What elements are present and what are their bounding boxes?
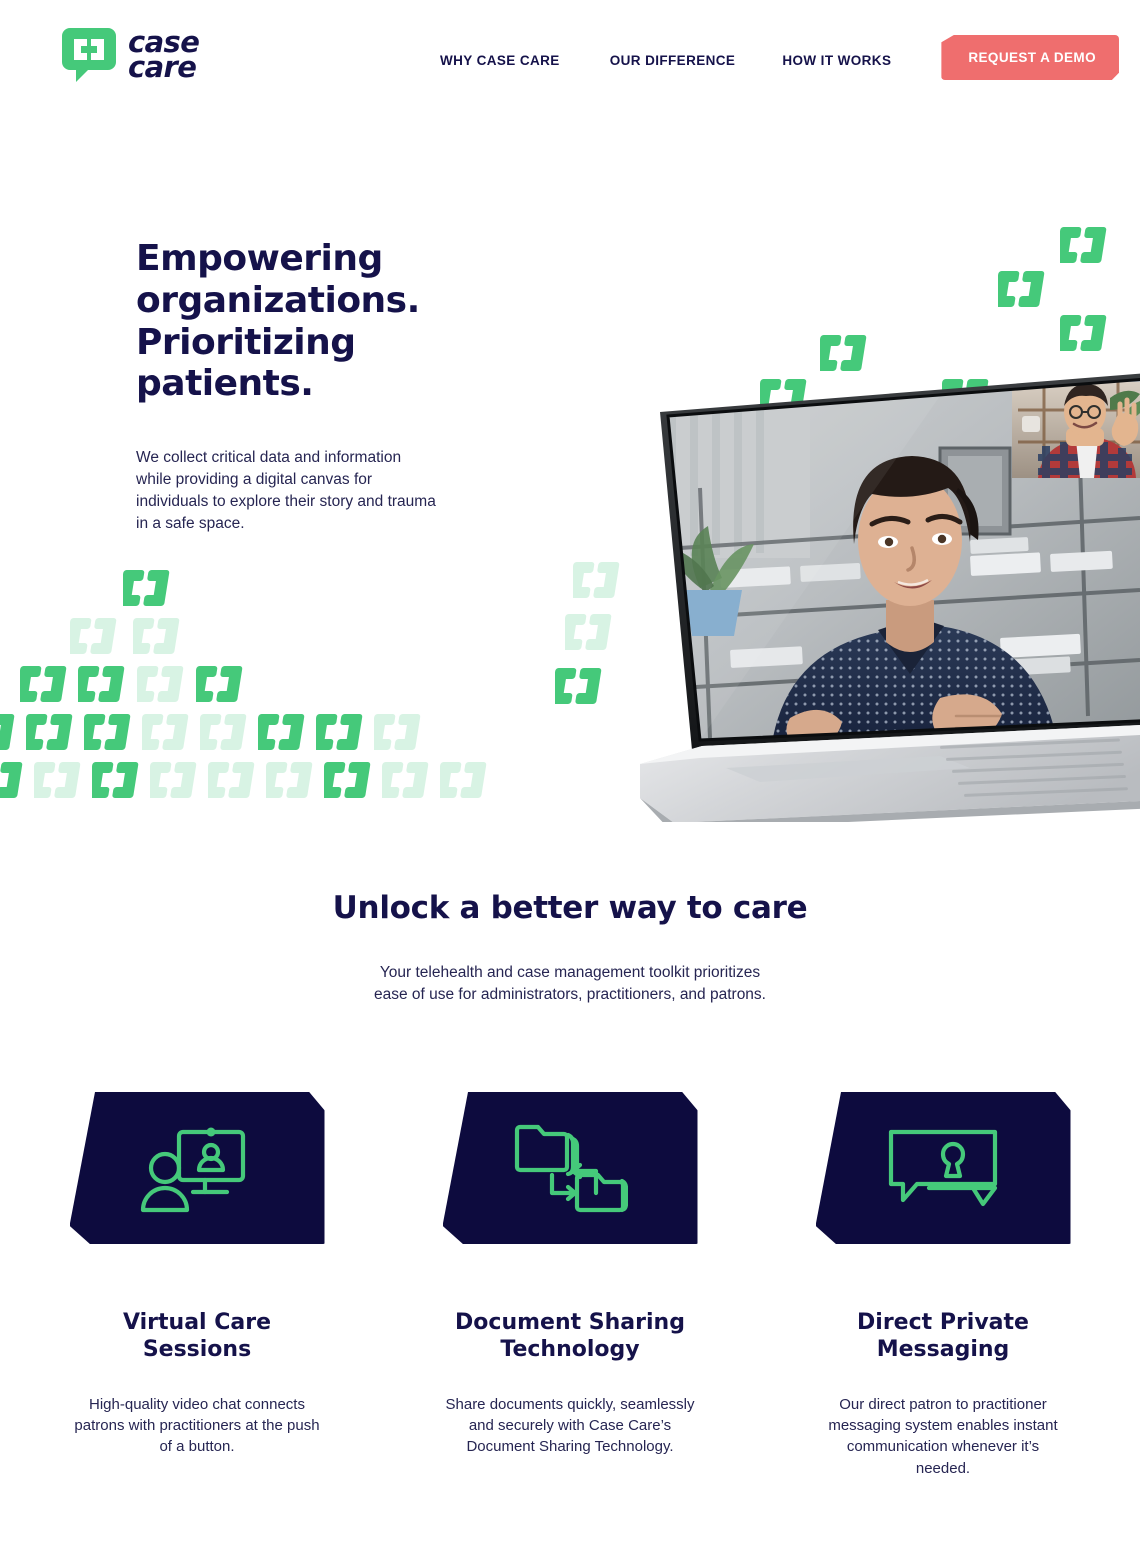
feature-card-icon-plate (443, 1092, 698, 1244)
feature-card-direct-private-messaging[interactable]: Direct Private Messaging Our direct patr… (816, 1092, 1071, 1479)
site-header: case care WHY CASE CARE OUR DIFFERENCE H… (0, 0, 1140, 112)
hero-subtitle: We collect critical data and information… (136, 447, 436, 535)
request-a-demo-button[interactable]: REQUEST A DEMO (941, 35, 1119, 80)
features-section: Unlock a better way to care Your telehea… (0, 822, 1140, 1542)
bracket-glyph (123, 568, 171, 610)
feature-card-icon-plate (70, 1092, 325, 1244)
landing-page: Empowering organizations. Prioritizing p… (0, 0, 1140, 1542)
virtual-care-person-monitor-icon (139, 1122, 255, 1214)
hero-title-line: Empowering (136, 238, 466, 280)
bracket-glyph (133, 616, 181, 658)
bracket-glyph (137, 664, 185, 706)
hero-copy: Empowering organizations. Prioritizing p… (136, 238, 466, 535)
feature-card-title: Virtual Care Sessions (70, 1310, 325, 1364)
feature-card-body: Share documents quickly, seamlessly and … (445, 1394, 695, 1458)
bracket-glyph (266, 760, 314, 802)
hero-title: Empowering organizations. Prioritizing p… (136, 238, 466, 405)
bracket-glyph (565, 612, 613, 654)
bracket-glyph (34, 760, 82, 802)
nav-item-why-case-care[interactable]: WHY CASE CARE (440, 47, 560, 74)
features-subheading: Your telehealth and case management tool… (370, 962, 770, 1007)
nav-item-how-it-works[interactable]: HOW IT WORKS (782, 47, 891, 74)
bracket-glyph (0, 760, 24, 802)
bracket-glyph (382, 760, 430, 802)
document-sharing-folders-transfer-icon (512, 1119, 628, 1217)
bracket-pattern-left (0, 560, 520, 822)
bracket-glyph (208, 760, 256, 802)
bracket-glyph (142, 712, 190, 754)
feature-card-title: Document Sharing Technology (443, 1310, 698, 1364)
feature-card-title: Direct Private Messaging (816, 1310, 1071, 1364)
feature-card-list: Virtual Care Sessions High-quality video… (0, 1092, 1140, 1479)
bracket-glyph (78, 664, 126, 706)
bracket-glyph (258, 712, 306, 754)
nav-item-our-difference[interactable]: OUR DIFFERENCE (610, 47, 736, 74)
case-care-speech-bubble-logo-icon (60, 26, 118, 84)
bracket-glyph (1060, 225, 1108, 267)
hero-title-line: Prioritizing (136, 322, 466, 364)
bracket-glyph (92, 760, 140, 802)
bracket-glyph (573, 560, 621, 602)
bracket-glyph (200, 712, 248, 754)
bracket-glyph (196, 664, 244, 706)
feature-card-document-sharing-technology[interactable]: Document Sharing Technology Share docume… (443, 1092, 698, 1479)
bracket-glyph (20, 664, 68, 706)
hero-section: Empowering organizations. Prioritizing p… (0, 0, 1140, 822)
bracket-glyph (84, 712, 132, 754)
hero-laptop-image (640, 368, 1140, 822)
private-messaging-keyhole-chat-icon (885, 1126, 1001, 1210)
hero-title-line: organizations. (136, 280, 466, 322)
bracket-glyph (1060, 313, 1108, 355)
feature-card-body: High-quality video chat connects patrons… (72, 1394, 322, 1458)
bracket-glyph (0, 712, 16, 754)
bracket-glyph (324, 760, 372, 802)
bracket-glyph (555, 666, 603, 708)
bracket-glyph (70, 616, 118, 658)
bracket-glyph (440, 760, 488, 802)
bracket-glyph (998, 269, 1046, 311)
brand-wordmark: case care (128, 30, 199, 80)
features-heading: Unlock a better way to care (0, 890, 1140, 926)
primary-navigation: WHY CASE CARE OUR DIFFERENCE HOW IT WORK… (440, 40, 1119, 80)
feature-card-icon-plate (816, 1092, 1071, 1244)
bracket-glyph (26, 712, 74, 754)
feature-card-virtual-care-sessions[interactable]: Virtual Care Sessions High-quality video… (70, 1092, 325, 1479)
bracket-glyph (150, 760, 198, 802)
hero-title-line: patients. (136, 363, 466, 405)
brand-logo[interactable]: case care (60, 26, 199, 84)
bracket-glyph (374, 712, 422, 754)
brand-word-line2: care (128, 55, 199, 80)
bracket-glyph (316, 712, 364, 754)
feature-card-body: Our direct patron to practitioner messag… (818, 1394, 1068, 1479)
